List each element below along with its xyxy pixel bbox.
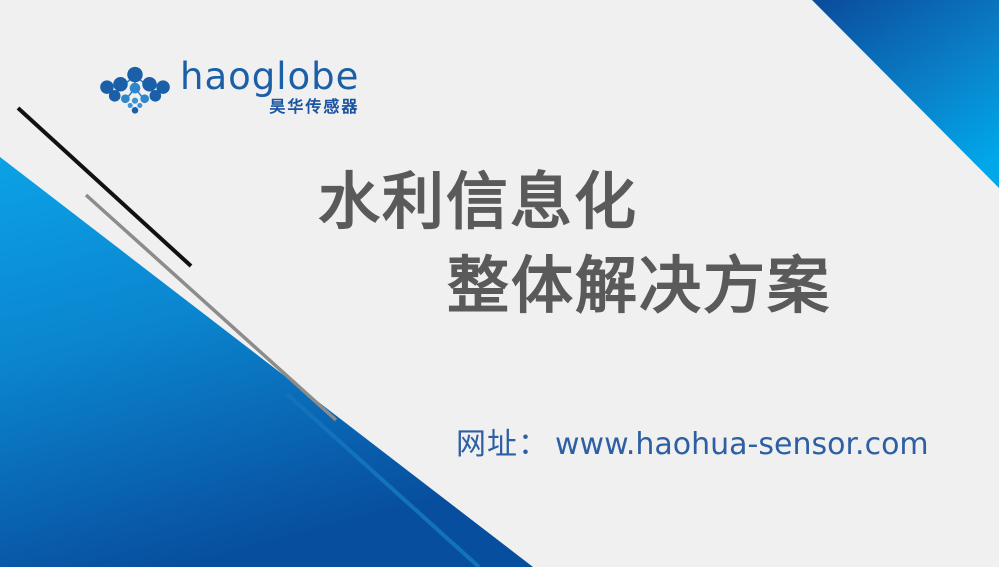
company-logo: haoglobe 昊华传感器: [98, 58, 359, 120]
logo-wordmark: haoglobe: [180, 58, 359, 96]
title-line-1: 水利信息化: [0, 160, 999, 244]
molecule-dots-icon: [98, 62, 172, 120]
website-line: 网址： www.haohua-sensor.com: [456, 419, 929, 463]
website-label: 网址：: [456, 419, 549, 463]
title-line-2: 整体解决方案: [0, 244, 999, 328]
accent-line-blue: [287, 394, 479, 567]
logo-chinese-name: 昊华传感器: [269, 97, 359, 116]
website-url[interactable]: www.haohua-sensor.com: [555, 427, 929, 462]
slide-canvas: haoglobe 昊华传感器 水利信息化 整体解决方案 网址： www.haoh…: [0, 0, 999, 567]
slide-title: 水利信息化 整体解决方案: [0, 160, 999, 328]
